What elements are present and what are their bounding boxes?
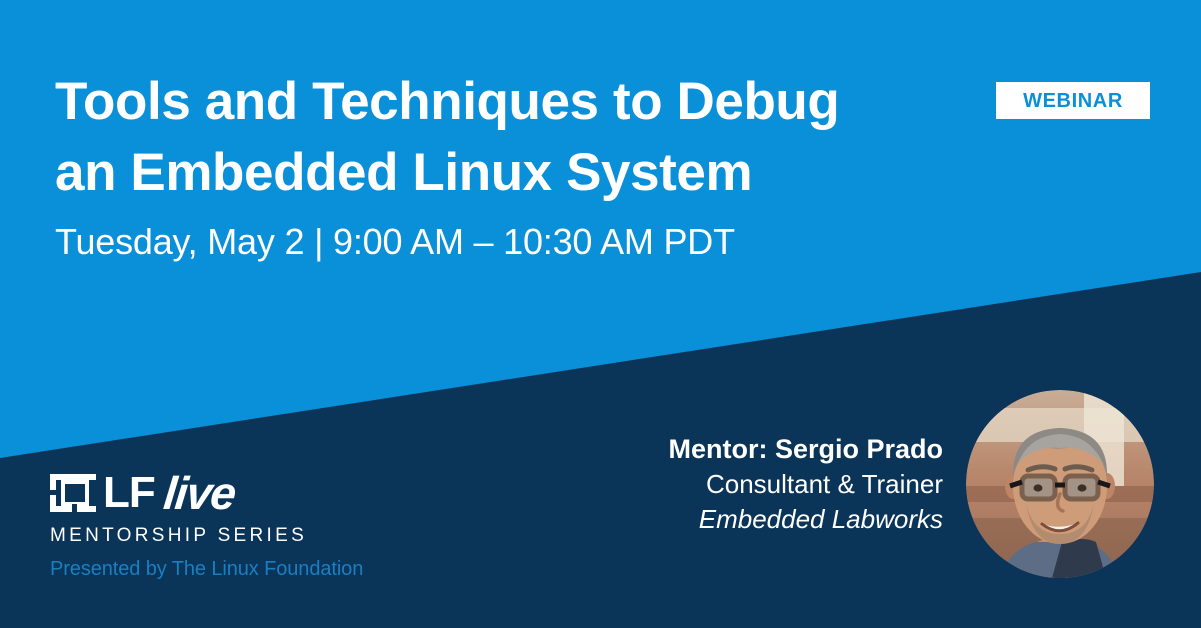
- page-title-line-2: an Embedded Linux System: [55, 143, 752, 202]
- speaker-role: Consultant & Trainer: [523, 467, 943, 502]
- lf-logo-script-word: live: [161, 470, 237, 516]
- event-datetime: Tuesday, May 2 | 9:00 AM – 10:30 AM PDT: [55, 220, 935, 263]
- speaker-info-block: Mentor: Sergio Prado Consultant & Traine…: [523, 432, 943, 538]
- webinar-badge: WEBINAR: [996, 82, 1150, 119]
- speaker-avatar: [966, 390, 1154, 578]
- lf-logo-series-label: MENTORSHIP SERIES: [50, 526, 363, 545]
- lf-live-logo-lockup: LF live MENTORSHIP SERIES Presented by T…: [50, 468, 363, 579]
- speaker-name: Mentor: Sergio Prado: [523, 432, 943, 467]
- page-title-line-1: Tools and Techniques to Debug: [55, 72, 839, 131]
- webinar-promo-card: WEBINAR Tools and Techniques to Debug an…: [0, 0, 1201, 628]
- lf-logo-letters: LF: [103, 471, 155, 515]
- presented-by-label: Presented by The Linux Foundation: [50, 559, 363, 579]
- lf-logo-row: LF live: [50, 468, 363, 518]
- headline-block: Tools and Techniques to Debug an Embedde…: [55, 66, 935, 263]
- lf-bracket-icon: [50, 474, 96, 512]
- webinar-badge-label: WEBINAR: [1023, 91, 1123, 111]
- speaker-organization: Embedded Labworks: [523, 502, 943, 537]
- page-title: Tools and Techniques to Debug an Embedde…: [55, 66, 935, 208]
